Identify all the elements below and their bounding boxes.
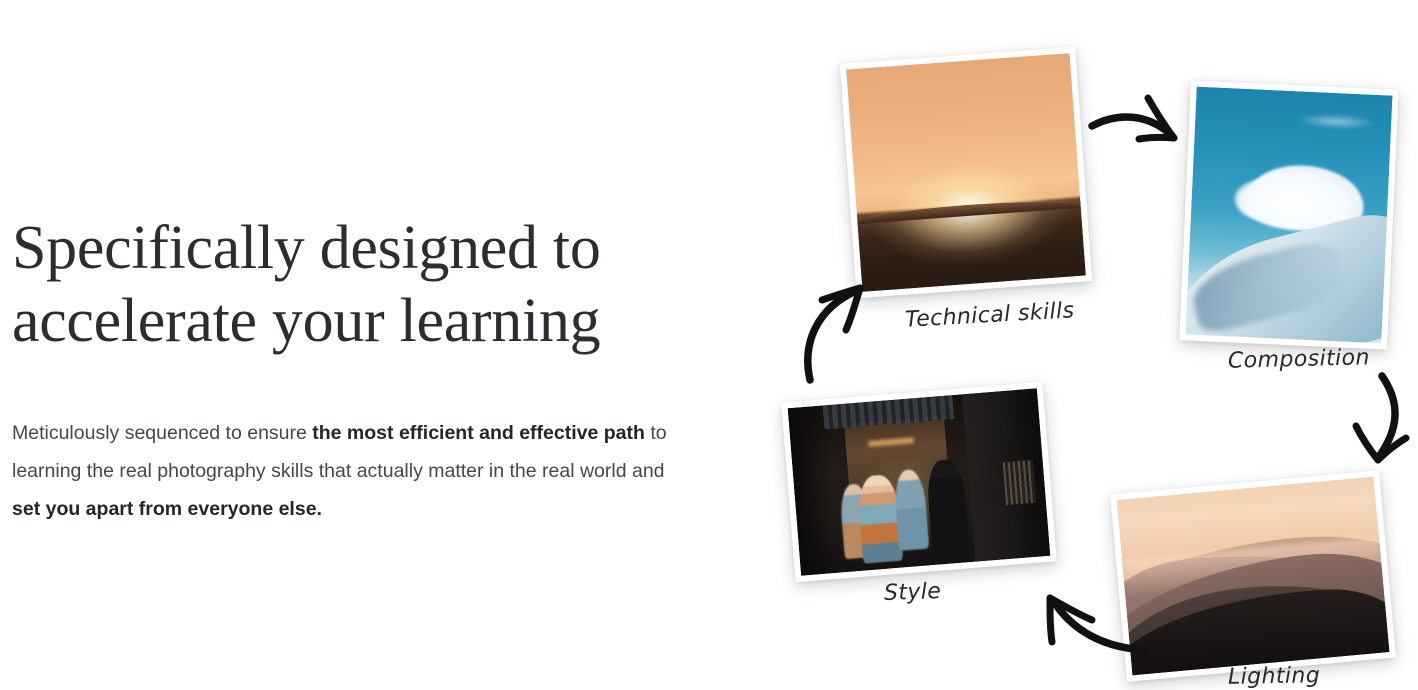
photo-japanese-street-geisha bbox=[788, 388, 1051, 576]
photo-card-composition[interactable] bbox=[1179, 80, 1399, 349]
photo-label-technical-skills: Technical skills bbox=[904, 298, 1075, 332]
text-column: Specifically designed to accelerate your… bbox=[12, 0, 702, 690]
body-bold-1: the most efficient and effective path bbox=[312, 422, 645, 444]
headline-line-1: Specifically designed to bbox=[12, 212, 672, 285]
photo-card-technical-skills[interactable] bbox=[840, 47, 1093, 299]
curved-arrow-left-icon bbox=[1030, 588, 1148, 660]
body-bold-2: set you apart from everyone else. bbox=[12, 498, 322, 520]
body-text-part-1: Meticulously sequenced to ensure bbox=[12, 422, 312, 444]
curved-arrow-up-icon bbox=[796, 282, 876, 384]
curved-arrow-down-icon bbox=[1348, 372, 1410, 472]
page-title: Specifically designed to accelerate your… bbox=[12, 212, 672, 358]
body-paragraph: Meticulously sequenced to ensure the mos… bbox=[12, 414, 687, 528]
photo-label-style: Style bbox=[884, 579, 942, 606]
photo-cloud-over-snow-dune bbox=[1185, 87, 1392, 344]
photo-card-style[interactable] bbox=[781, 382, 1057, 582]
headline-line-2: accelerate your learning bbox=[12, 285, 672, 358]
photo-label-lighting: Lighting bbox=[1228, 663, 1321, 690]
photo-cycle-collage: Technical skills Composition bbox=[700, 0, 1418, 690]
photo-label-composition: Composition bbox=[1228, 345, 1370, 373]
photo-sunset-over-hills bbox=[846, 53, 1086, 292]
photo-card-lighting[interactable] bbox=[1110, 470, 1396, 682]
curved-arrow-right-icon bbox=[1090, 92, 1200, 164]
photo-mountain-ridges-at-dusk bbox=[1117, 477, 1390, 676]
